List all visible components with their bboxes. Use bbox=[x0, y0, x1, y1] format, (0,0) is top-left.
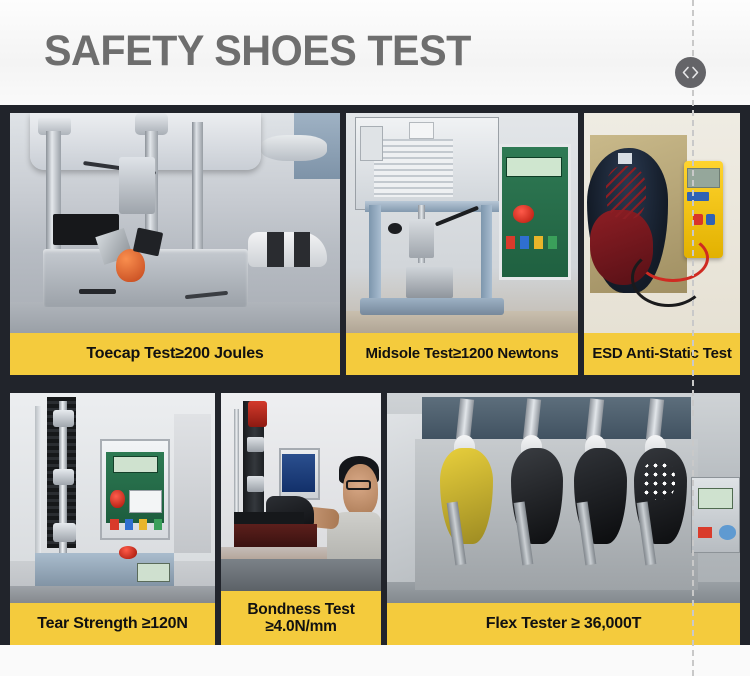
test-gallery-board: Toecap Test≥200 Joules bbox=[0, 105, 750, 645]
gallery-row-top: Toecap Test≥200 Joules bbox=[10, 113, 740, 375]
test-card-esd[interactable]: ESD Anti-Static Test bbox=[584, 113, 740, 375]
vertical-guide-line bbox=[692, 0, 694, 676]
test-card-bondness[interactable]: Bondness Test ≥4.0N/mm bbox=[221, 393, 381, 645]
gallery-row-bottom: Tear Strength ≥120N bbox=[10, 393, 740, 645]
code-brackets-icon[interactable] bbox=[675, 57, 706, 88]
test-card-toecap[interactable]: Toecap Test≥200 Joules bbox=[10, 113, 340, 375]
test-card-caption: Tear Strength ≥120N bbox=[10, 603, 215, 645]
toecap-impact-tester-photo bbox=[10, 113, 340, 333]
tensile-tear-strength-tester-photo bbox=[10, 393, 215, 603]
midsole-penetration-tester-photo bbox=[346, 113, 578, 333]
product-detail-page: SAFETY SHOES TEST bbox=[0, 0, 750, 676]
test-card-tear-strength[interactable]: Tear Strength ≥120N bbox=[10, 393, 215, 645]
flex-tester-four-shoes-photo bbox=[387, 393, 740, 603]
test-card-caption: Flex Tester ≥ 36,000T bbox=[387, 603, 740, 645]
esd-anti-static-meter-photo bbox=[584, 113, 740, 333]
bond-peel-strength-test-photo bbox=[221, 393, 381, 591]
test-card-caption: Midsole Test≥1200 Newtons bbox=[346, 333, 578, 375]
test-card-caption: Toecap Test≥200 Joules bbox=[10, 333, 340, 375]
page-header: SAFETY SHOES TEST bbox=[0, 0, 750, 105]
test-card-flex-tester[interactable]: Flex Tester ≥ 36,000T bbox=[387, 393, 740, 645]
page-footer-strip bbox=[0, 645, 750, 676]
test-card-caption: Bondness Test ≥4.0N/mm bbox=[221, 591, 381, 645]
page-title: SAFETY SHOES TEST bbox=[44, 24, 471, 78]
test-card-caption: ESD Anti-Static Test bbox=[584, 333, 740, 375]
test-card-midsole[interactable]: Midsole Test≥1200 Newtons bbox=[346, 113, 578, 375]
